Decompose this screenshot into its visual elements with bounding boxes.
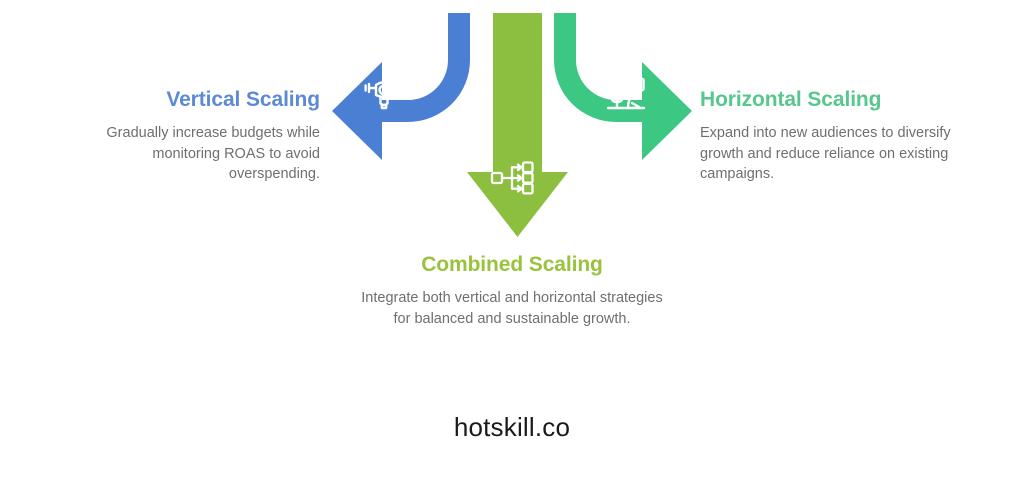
combined-scaling-arrow xyxy=(467,13,568,237)
combined-scaling-text-block: Combined Scaling Integrate both vertical… xyxy=(352,253,672,330)
horizontal-scaling-text-block: Horizontal Scaling Expand into new audie… xyxy=(700,88,972,185)
combined-scaling-description: Integrate both vertical and horizontal s… xyxy=(352,288,672,330)
infographic-canvas: Vertical Scaling Gradually increase budg… xyxy=(0,0,1024,481)
combined-scaling-heading: Combined Scaling xyxy=(352,253,672,276)
vertical-scaling-text-block: Vertical Scaling Gradually increase budg… xyxy=(60,88,320,185)
olive-arrow-shape xyxy=(467,13,568,237)
horizontal-scaling-arrow xyxy=(554,13,692,160)
arrows-svg xyxy=(320,0,704,250)
vertical-scaling-description: Gradually increase budgets while monitor… xyxy=(60,123,320,185)
scaling-arrows-graphic xyxy=(320,0,704,250)
green-arrow-shape xyxy=(554,13,692,160)
blue-arrow-shape xyxy=(332,13,470,160)
horizontal-scaling-description: Expand into new audiences to diversify g… xyxy=(700,123,972,185)
vertical-scaling-arrow xyxy=(332,13,470,160)
brand-watermark: hotskill.co xyxy=(0,412,1024,443)
vertical-scaling-heading: Vertical Scaling xyxy=(60,88,320,111)
horizontal-scaling-heading: Horizontal Scaling xyxy=(700,88,972,111)
